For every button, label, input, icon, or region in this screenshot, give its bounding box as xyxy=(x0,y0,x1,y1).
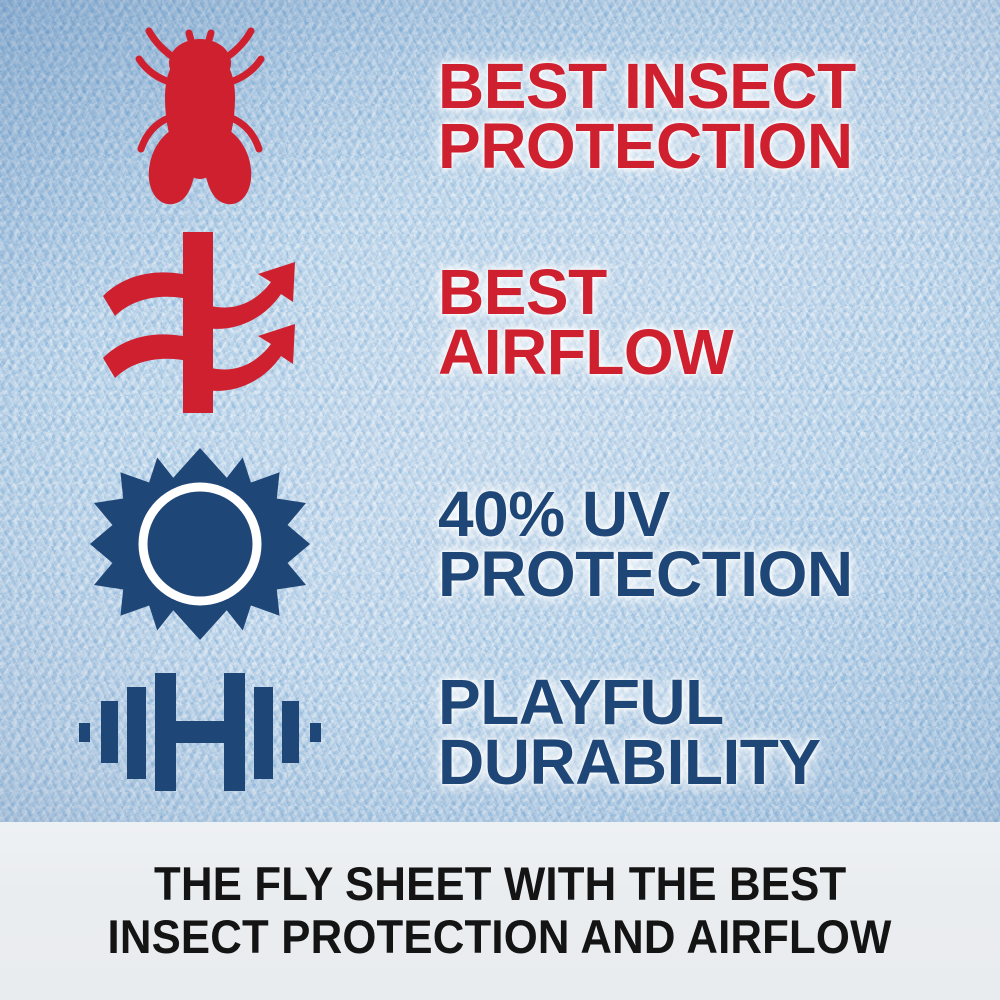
feature-row-airflow: BEST AIRFLOW xyxy=(0,222,1000,422)
dumbbell-icon xyxy=(75,667,325,797)
text-cell-durability: PLAYFUL DURABILITY xyxy=(400,672,960,792)
icon-cell-insect xyxy=(0,21,400,211)
airflow-icon xyxy=(95,230,305,415)
caption-line-1: THE FLY SHEET WITH THE BEST xyxy=(154,858,846,911)
text-cell-uv: 40% UV PROTECTION xyxy=(400,484,960,604)
text-cell-insect: BEST INSECT PROTECTION xyxy=(400,56,960,176)
icon-cell-uv xyxy=(0,444,400,644)
feature-row-insect-protection: BEST INSECT PROTECTION xyxy=(0,18,1000,214)
feature-row-uv-protection: 40% UV PROTECTION xyxy=(0,438,1000,650)
feature-label-durability: PLAYFUL DURABILITY xyxy=(438,672,960,792)
caption-line-2: INSECT PROTECTION AND AIRFLOW xyxy=(108,911,892,964)
feature-label-airflow: BEST AIRFLOW xyxy=(438,262,960,382)
product-feature-infographic: BEST INSECT PROTECTION xyxy=(0,0,1000,1000)
icon-cell-airflow xyxy=(0,230,400,415)
caption-band: THE FLY SHEET WITH THE BEST INSECT PROTE… xyxy=(0,822,1000,1000)
text-cell-airflow: BEST AIRFLOW xyxy=(400,262,960,382)
icon-cell-durability xyxy=(0,667,400,797)
feature-label-insect-protection: BEST INSECT PROTECTION xyxy=(438,56,960,176)
feature-list: BEST INSECT PROTECTION xyxy=(0,0,1000,822)
fly-icon xyxy=(115,21,285,211)
sun-uv-icon xyxy=(100,444,300,644)
feature-label-uv-protection: 40% UV PROTECTION xyxy=(438,484,960,604)
feature-row-durability: PLAYFUL DURABILITY xyxy=(0,652,1000,812)
